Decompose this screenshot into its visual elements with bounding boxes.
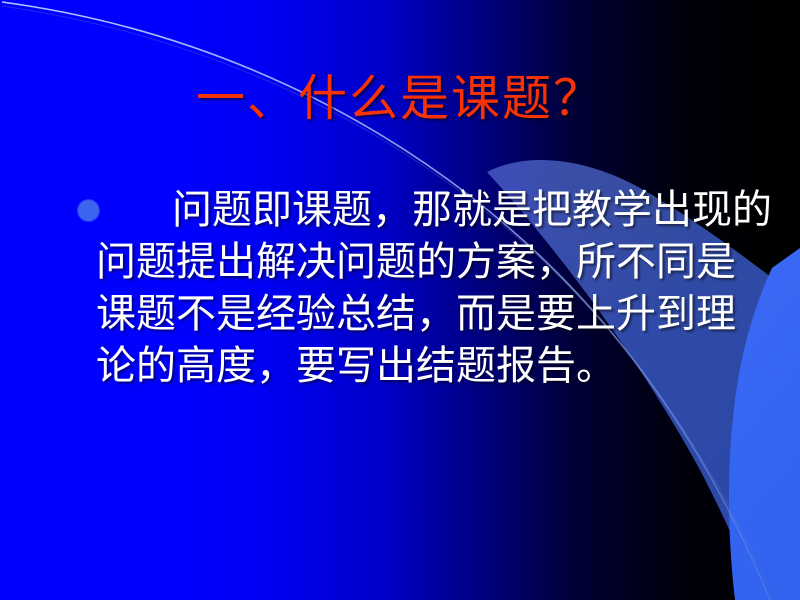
bullet-marker-icon — [78, 200, 99, 221]
slide-title: 一、什么是课题？ — [0, 74, 800, 123]
bullet-item-text: 问题即课题，那就是把教学出现的问题提出解决问题的方案，所不同是课题不是经验总结，… — [72, 184, 772, 392]
presentation-slide: 一、什么是课题？ 问题即课题，那就是把教学出现的问题提出解决问题的方案，所不同是… — [0, 0, 800, 600]
slide-body: 问题即课题，那就是把教学出现的问题提出解决问题的方案，所不同是课题不是经验总结，… — [72, 184, 772, 392]
